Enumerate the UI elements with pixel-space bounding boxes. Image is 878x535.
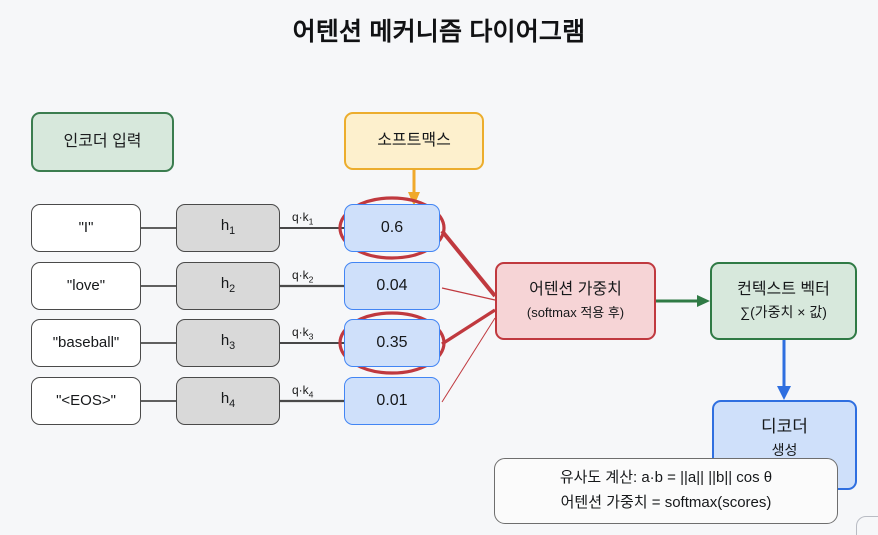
connector-score-attention-3 <box>442 310 495 344</box>
context-vector-label: 컨텍스트 벡터 <box>737 280 830 300</box>
qk-label-4: q·k4 <box>292 383 313 399</box>
hidden-state-box-3: h3 <box>176 319 280 367</box>
score-value-4: 0.01 <box>376 391 407 411</box>
softmax-label: 소프트맥스 <box>377 131 451 151</box>
decoder-label: 디코더 <box>761 416 808 437</box>
score-box-4: 0.01 <box>344 377 440 425</box>
context-vector-sublabel: ∑(가중치 × 값) <box>740 304 827 322</box>
score-value-2: 0.04 <box>376 276 407 296</box>
attention-weight-sublabel: (softmax 적용 후) <box>527 305 624 321</box>
hidden-state-box-1: h1 <box>176 204 280 252</box>
qk-label-1: q·k1 <box>292 210 313 226</box>
token-box-1: "I" <box>31 204 141 252</box>
attention-weight-label: 어텐션 가중치 <box>529 280 622 300</box>
hidden-state-box-4: h4 <box>176 377 280 425</box>
hidden-state-label-2: h2 <box>221 275 235 296</box>
diagram-canvas: 어텐션 메커니즘 다이어그램 인코더 입력 소프트맥스 <box>0 0 878 535</box>
attention-weight-node: 어텐션 가중치 (softmax 적용 후) <box>495 262 656 340</box>
token-label-4: "<EOS>" <box>56 392 116 411</box>
score-value-1: 0.6 <box>381 218 403 238</box>
formula-note: 유사도 계산: a·b = ||a|| ||b|| cos θ 어텐션 가중치 … <box>494 458 838 524</box>
hidden-state-label-1: h1 <box>221 217 235 238</box>
encoder-input-header: 인코더 입력 <box>31 112 174 172</box>
token-box-3: "baseball" <box>31 319 141 367</box>
score-box-3: 0.35 <box>344 319 440 367</box>
formula-line-1: 유사도 계산: a·b = ||a|| ||b|| cos θ <box>560 469 772 488</box>
hidden-state-label-4: h4 <box>221 390 235 411</box>
page-title: 어텐션 메커니즘 다이어그램 <box>0 12 878 48</box>
formula-line-2: 어텐션 가중치 = softmax(scores) <box>561 494 772 513</box>
score-box-1: 0.6 <box>344 204 440 252</box>
corner-stub-shape <box>856 516 878 535</box>
token-box-4: "<EOS>" <box>31 377 141 425</box>
token-label-3: "baseball" <box>53 334 120 353</box>
token-label-1: "I" <box>79 219 94 238</box>
token-label-2: "love" <box>67 277 105 296</box>
connector-score-attention-1 <box>442 231 495 296</box>
softmax-node: 소프트맥스 <box>344 112 484 170</box>
context-vector-node: 컨텍스트 벡터 ∑(가중치 × 값) <box>710 262 857 340</box>
connector-score-attention-2 <box>442 288 495 300</box>
score-box-2: 0.04 <box>344 262 440 310</box>
token-box-2: "love" <box>31 262 141 310</box>
encoder-input-label: 인코더 입력 <box>63 132 141 152</box>
arrowhead-context <box>697 295 710 307</box>
hidden-state-box-2: h2 <box>176 262 280 310</box>
score-value-3: 0.35 <box>376 333 407 353</box>
arrowhead-decoder <box>777 386 791 400</box>
connector-score-attention-4 <box>442 318 495 402</box>
qk-label-2: q·k2 <box>292 268 313 284</box>
qk-label-3: q·k3 <box>292 325 313 341</box>
hidden-state-label-3: h3 <box>221 332 235 353</box>
